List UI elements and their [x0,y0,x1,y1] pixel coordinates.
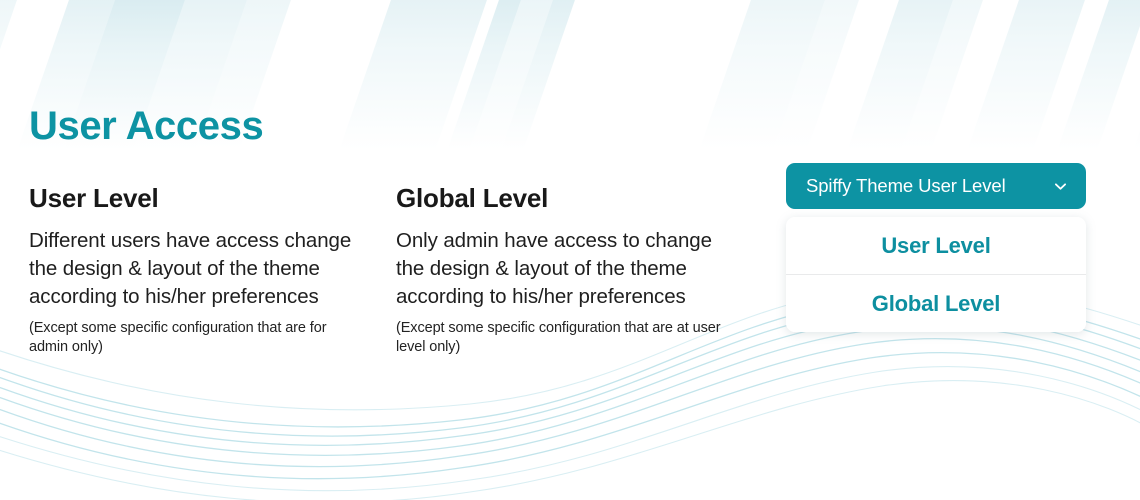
column-note-user-level: (Except some specific configuration that… [29,319,359,357]
dropdown-option-global-level[interactable]: Global Level [786,274,1086,332]
theme-user-level-dropdown: Spiffy Theme User Level User Level Globa… [786,163,1086,332]
column-note-global-level: (Except some specific configuration that… [396,319,726,357]
column-body-user-level: Different users have access change the d… [29,227,359,311]
page-title: User Access [29,106,263,146]
column-body-global-level: Only admin have access to change the des… [396,227,726,311]
slide-user-access: User Access User Level Different users h… [0,0,1140,500]
column-user-level: User Level Different users have access c… [29,184,359,357]
dropdown-menu: User Level Global Level [786,217,1086,332]
dropdown-selected-value: Spiffy Theme User Level [806,175,1006,197]
column-heading-user-level: User Level [29,184,359,213]
dropdown-option-user-level[interactable]: User Level [786,217,1086,274]
dropdown-toggle[interactable]: Spiffy Theme User Level [786,163,1086,209]
column-heading-global-level: Global Level [396,184,726,213]
chevron-down-icon [1052,178,1069,195]
column-global-level: Global Level Only admin have access to c… [396,184,726,357]
